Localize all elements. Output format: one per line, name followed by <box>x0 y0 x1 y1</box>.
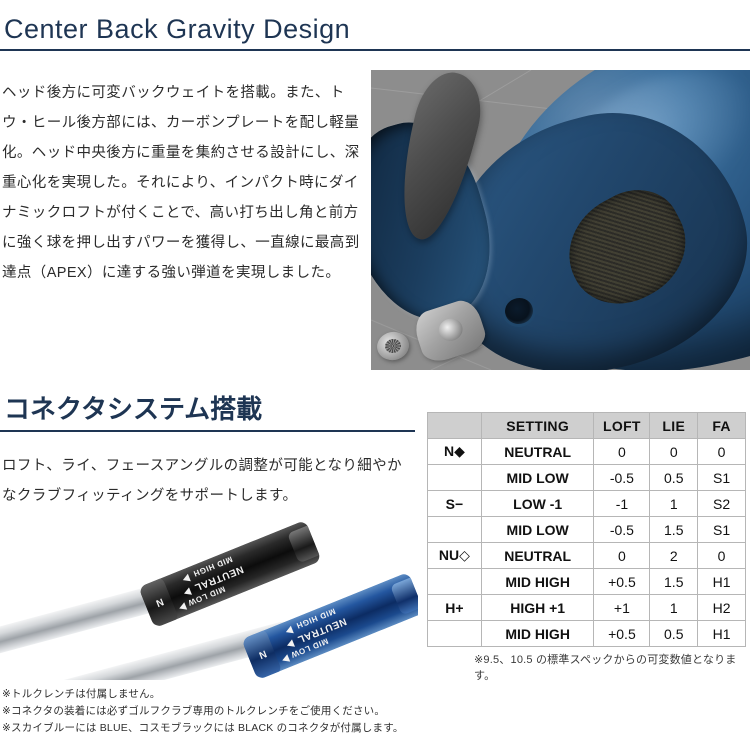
table-cell-lie: 1 <box>650 491 698 517</box>
table-cell-setting: LOW -1 <box>481 491 594 517</box>
table-cell-symbol <box>428 621 482 647</box>
table-row: MID HIGH+0.50.5H1 <box>428 621 746 647</box>
table-cell-lie: 0.5 <box>650 621 698 647</box>
table-cell-loft: +1 <box>594 595 650 621</box>
table-cell-setting: MID LOW <box>481 465 594 491</box>
loft-lie-fa-adjustment-table: SETTING LOFT LIE FA N◆NEUTRAL000MID LOW-… <box>427 412 746 647</box>
table-row: NU◇NEUTRAL020 <box>428 543 746 569</box>
center-back-gravity-description: ヘッド後方に可変バックウェイトを搭載。また、トウ・ヒール後方部には、カーボンプレ… <box>2 78 368 288</box>
table-header-row: SETTING LOFT LIE FA <box>428 413 746 439</box>
table-cell-setting: MID LOW <box>481 517 594 543</box>
table-cell-fa: 0 <box>698 543 746 569</box>
table-header-symbol <box>428 413 482 439</box>
footnote-item: ※スカイブルーには BLUE、コスモブラックには BLACK のコネクタが付属し… <box>2 720 404 737</box>
club-head-render-image <box>371 70 750 370</box>
table-cell-fa: H1 <box>698 569 746 595</box>
connector-system-description: ロフト、ライ、フェースアングルの調整が可能となり細やかなクラブフィッティングをサ… <box>2 451 402 511</box>
table-cell-symbol <box>428 569 482 595</box>
connector-sleeve-image: MID HIGH NEUTRAL MID LOW N MID HIGH NEUT… <box>0 512 418 680</box>
table-cell-loft: +0.5 <box>594 569 650 595</box>
table-cell-lie: 0.5 <box>650 465 698 491</box>
table-row: S−LOW -1-11S2 <box>428 491 746 517</box>
table-cell-fa: 0 <box>698 439 746 465</box>
table-cell-lie: 1.5 <box>650 517 698 543</box>
heading-rule <box>0 49 750 51</box>
footnote-item: ※トルクレンチは付属しません。 <box>2 686 404 703</box>
table-header-fa: FA <box>698 413 746 439</box>
heading-rule <box>0 430 415 432</box>
table-header-loft: LOFT <box>594 413 650 439</box>
footnote-list: ※トルクレンチは付属しません。 ※コネクタの装着には必ずゴルフクラブ専用のトルク… <box>2 686 404 737</box>
table-cell-loft: +0.5 <box>594 621 650 647</box>
table-footnote: ※9.5、10.5 の標準スペックからの可変数値となります。 <box>474 651 750 683</box>
table-cell-symbol: H+ <box>428 595 482 621</box>
table-cell-symbol: NU◇ <box>428 543 482 569</box>
table-cell-lie: 1 <box>650 595 698 621</box>
table-cell-fa: S1 <box>698 465 746 491</box>
table-header-setting: SETTING <box>481 413 594 439</box>
table-cell-fa: H2 <box>698 595 746 621</box>
connector-sleeve-black: MID HIGH NEUTRAL MID LOW N <box>138 520 321 628</box>
table-cell-setting: MID HIGH <box>481 621 594 647</box>
table-row: MID HIGH+0.51.5H1 <box>428 569 746 595</box>
section-heading-center-back-gravity-design: Center Back Gravity Design <box>0 14 750 51</box>
page-title: Center Back Gravity Design <box>0 14 750 45</box>
table-cell-setting: MID HIGH <box>481 569 594 595</box>
table-cell-symbol <box>428 465 482 491</box>
table-cell-fa: S2 <box>698 491 746 517</box>
table-cell-loft: 0 <box>594 439 650 465</box>
table-cell-setting: NEUTRAL <box>481 439 594 465</box>
table-cell-fa: H1 <box>698 621 746 647</box>
table-cell-symbol: S− <box>428 491 482 517</box>
table-cell-loft: -0.5 <box>594 465 650 491</box>
table-cell-loft: 0 <box>594 543 650 569</box>
table-cell-symbol: N◆ <box>428 439 482 465</box>
table-cell-lie: 2 <box>650 543 698 569</box>
table-header-lie: LIE <box>650 413 698 439</box>
table-cell-loft: -0.5 <box>594 517 650 543</box>
table-cell-fa: S1 <box>698 517 746 543</box>
table-row: MID LOW-0.50.5S1 <box>428 465 746 491</box>
table-cell-lie: 1.5 <box>650 569 698 595</box>
table-cell-lie: 0 <box>650 439 698 465</box>
table-row: H+HIGH +1+11H2 <box>428 595 746 621</box>
table-cell-setting: HIGH +1 <box>481 595 594 621</box>
table-cell-loft: -1 <box>594 491 650 517</box>
table-row: MID LOW-0.51.5S1 <box>428 517 746 543</box>
footnote-item: ※コネクタの装着には必ずゴルフクラブ専用のトルクレンチをご使用ください。 <box>2 703 404 720</box>
table-cell-symbol <box>428 517 482 543</box>
table-cell-setting: NEUTRAL <box>481 543 594 569</box>
table-row: N◆NEUTRAL000 <box>428 439 746 465</box>
